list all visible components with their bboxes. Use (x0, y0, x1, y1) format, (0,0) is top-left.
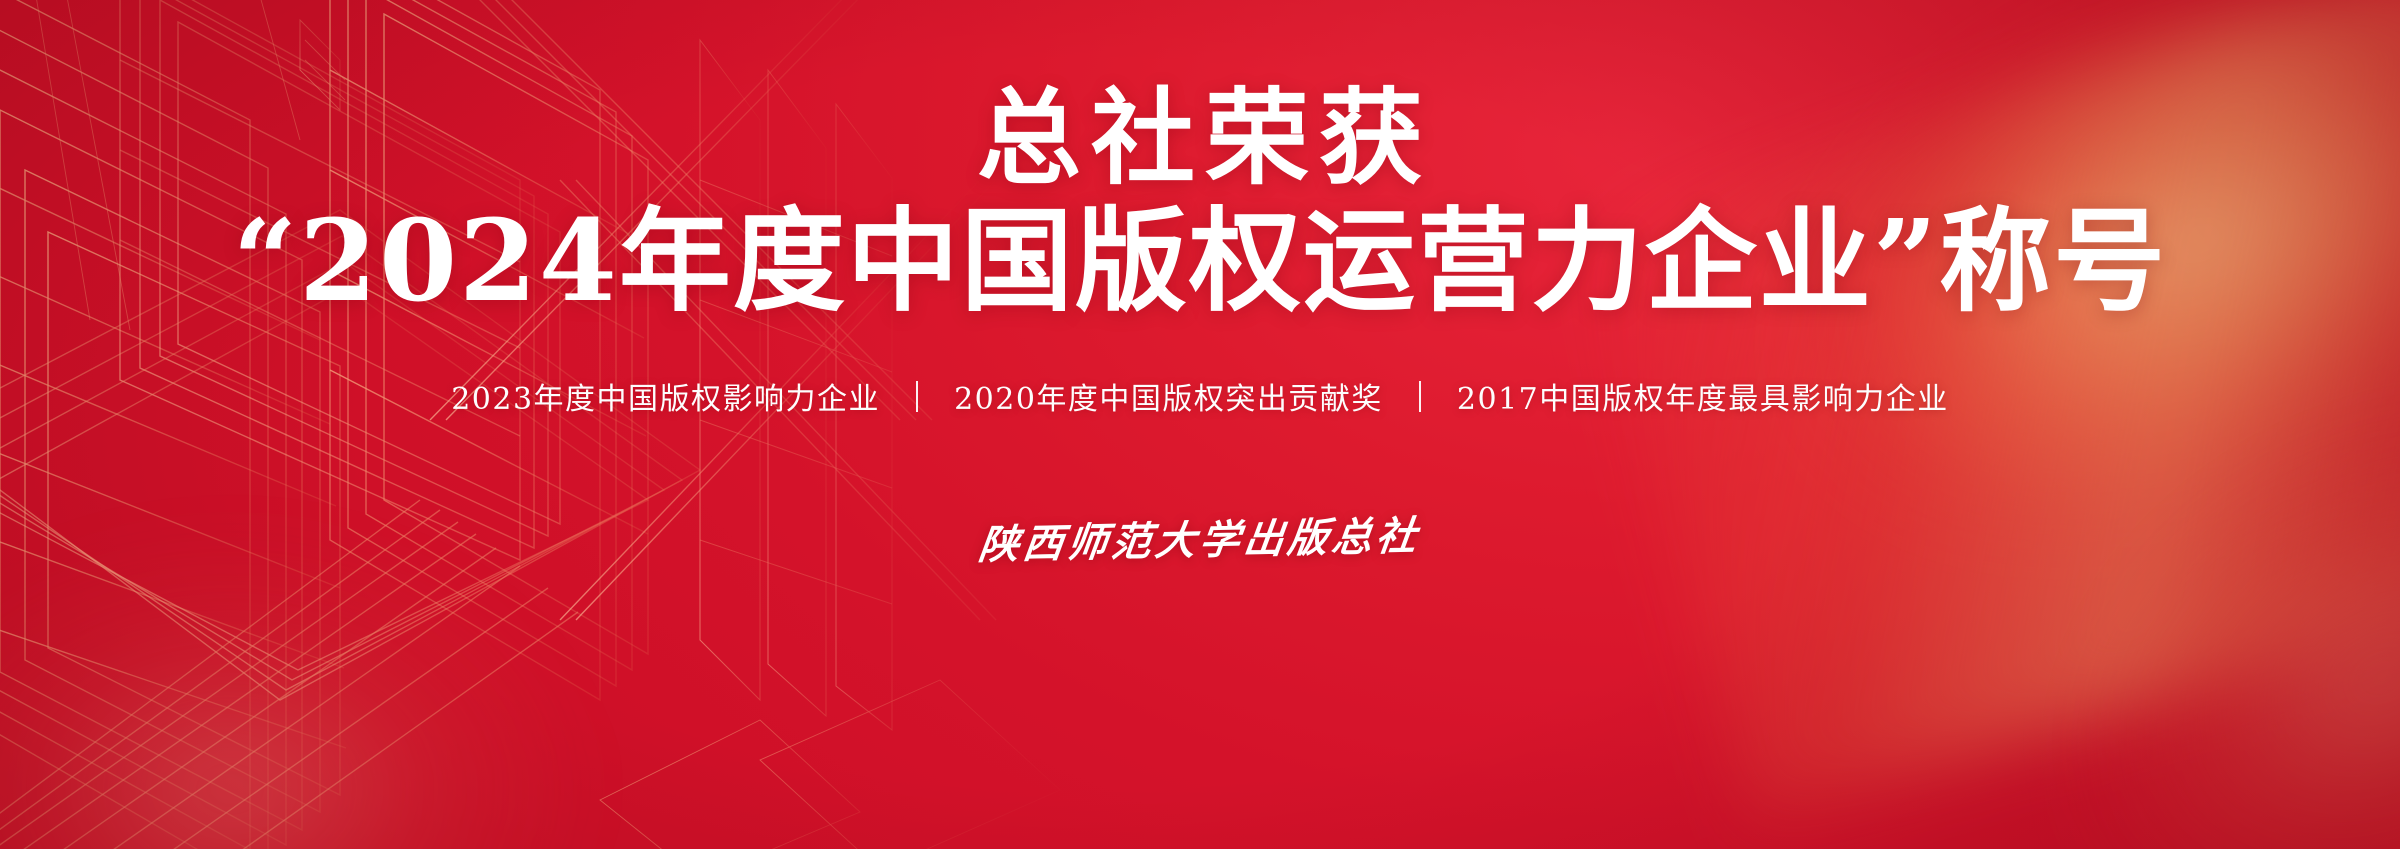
award-item-2017: 2017中国版权年度最具影响力企业 (1455, 374, 1951, 418)
award-item-2023: 2023年度中国版权影响力企业 (449, 374, 882, 418)
previous-awards-list: 2023年度中国版权影响力企业 2020年度中国版权突出贡献奖 2017中国版权… (449, 374, 1951, 418)
headline-award-title: “2024年度中国版权运营力企业”称号 (233, 206, 2168, 318)
award-separator-2 (1419, 381, 1421, 412)
publisher-signature: 陕西师范大学出版总社 (976, 503, 1424, 570)
banner-content: 总社荣获 “2024年度中国版权运营力企业”称号 2023年度中国版权影响力企业… (0, 0, 2400, 849)
headline-primary: 总社荣获 (967, 86, 1433, 190)
award-banner: 总社荣获 “2024年度中国版权运营力企业”称号 2023年度中国版权影响力企业… (0, 0, 2400, 849)
award-item-2020: 2020年度中国版权突出贡献奖 (952, 374, 1385, 418)
award-separator-1 (916, 381, 918, 412)
